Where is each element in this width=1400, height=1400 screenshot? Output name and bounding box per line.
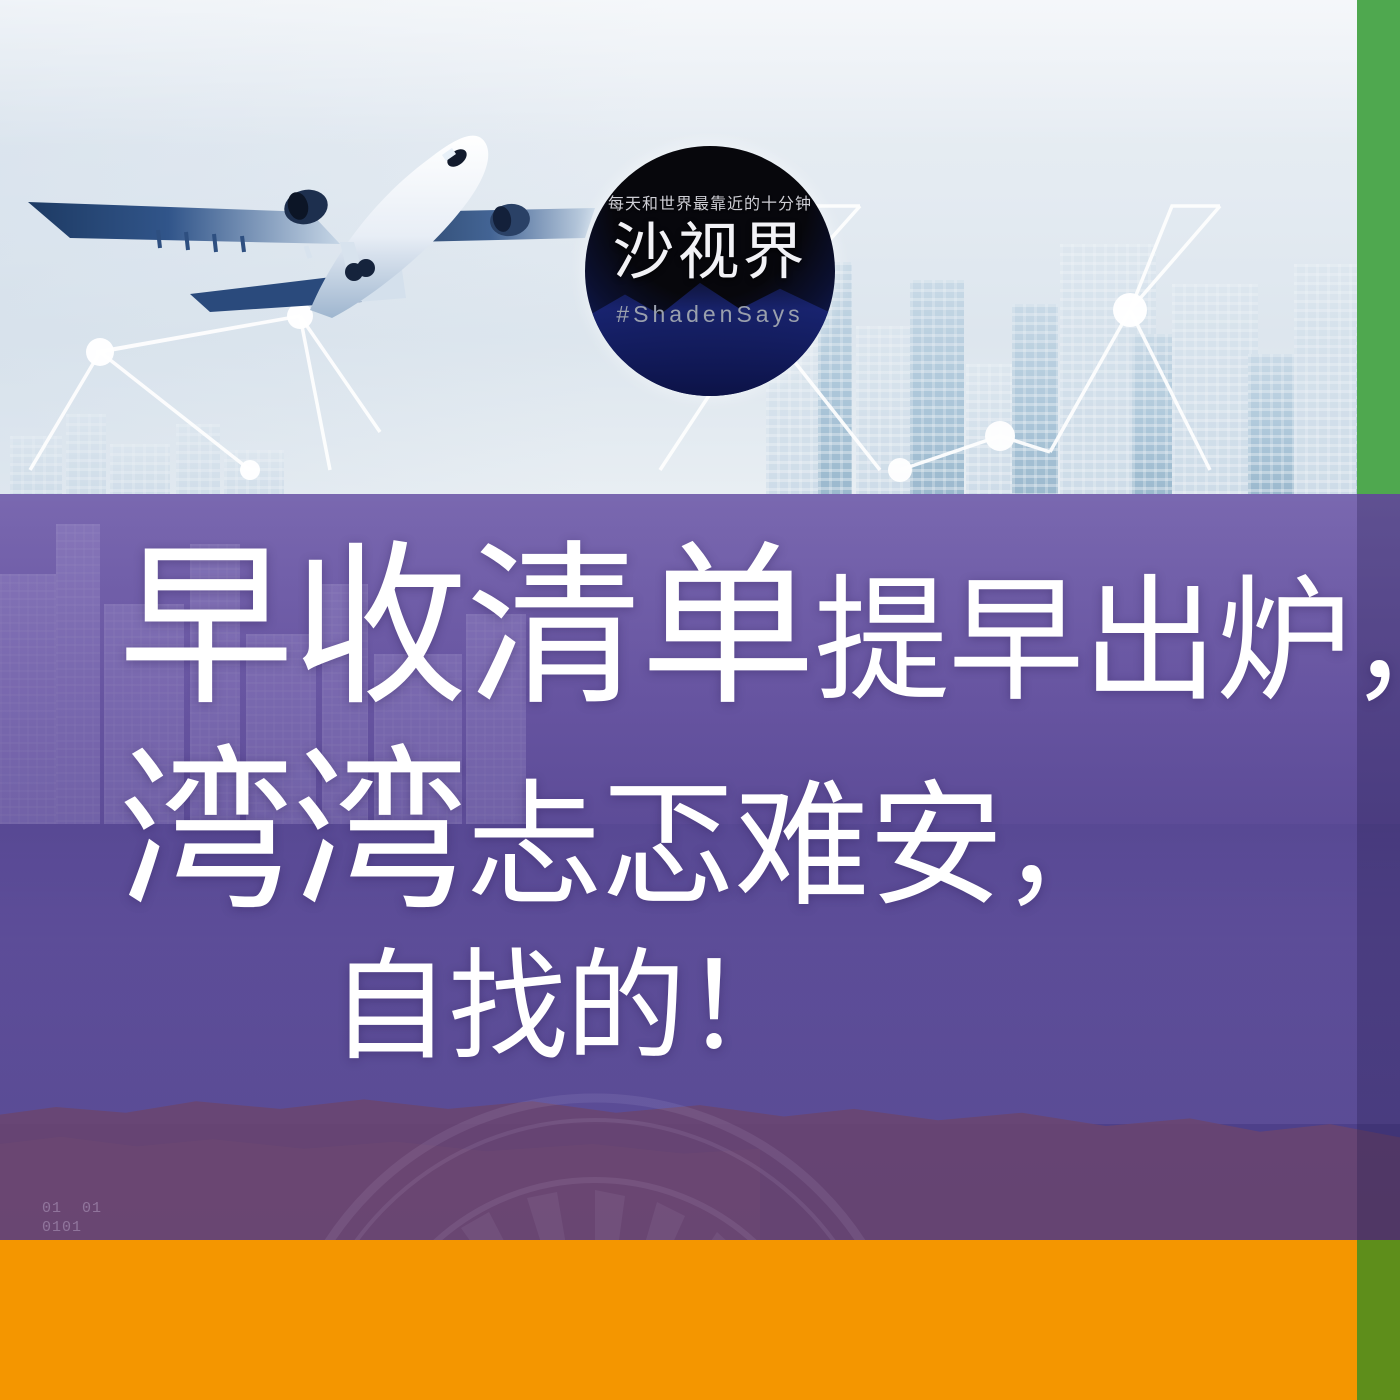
badge-tagline: 每天和世界最靠近的十分钟 xyxy=(608,190,812,214)
airplane-image xyxy=(10,62,610,412)
badge-hashtag: #ShadenSays xyxy=(616,301,803,328)
green-accent-strip-top xyxy=(1357,0,1400,494)
purple-water-band xyxy=(0,824,1400,1124)
bottom-orange-bar xyxy=(0,1240,1400,1400)
badge-brand-name: 沙视界 xyxy=(612,220,807,285)
bottom-green-accent xyxy=(1357,1240,1400,1400)
hero-photo-zone: 每天和世界最靠近的十分钟 沙视界 #ShadenSays xyxy=(0,0,1400,494)
purple-overlay-zone: ECFA 01 01 0101 01 01 0101 01 0101 01 01… xyxy=(0,494,1400,1240)
poster-canvas: 每天和世界最靠近的十分钟 沙视界 #ShadenSays xyxy=(0,0,1400,1400)
brand-badge: 每天和世界最靠近的十分钟 沙视界 #ShadenSays xyxy=(585,146,835,396)
purple-right-shade xyxy=(1357,494,1400,1240)
purple-city-silhouette xyxy=(0,494,540,824)
